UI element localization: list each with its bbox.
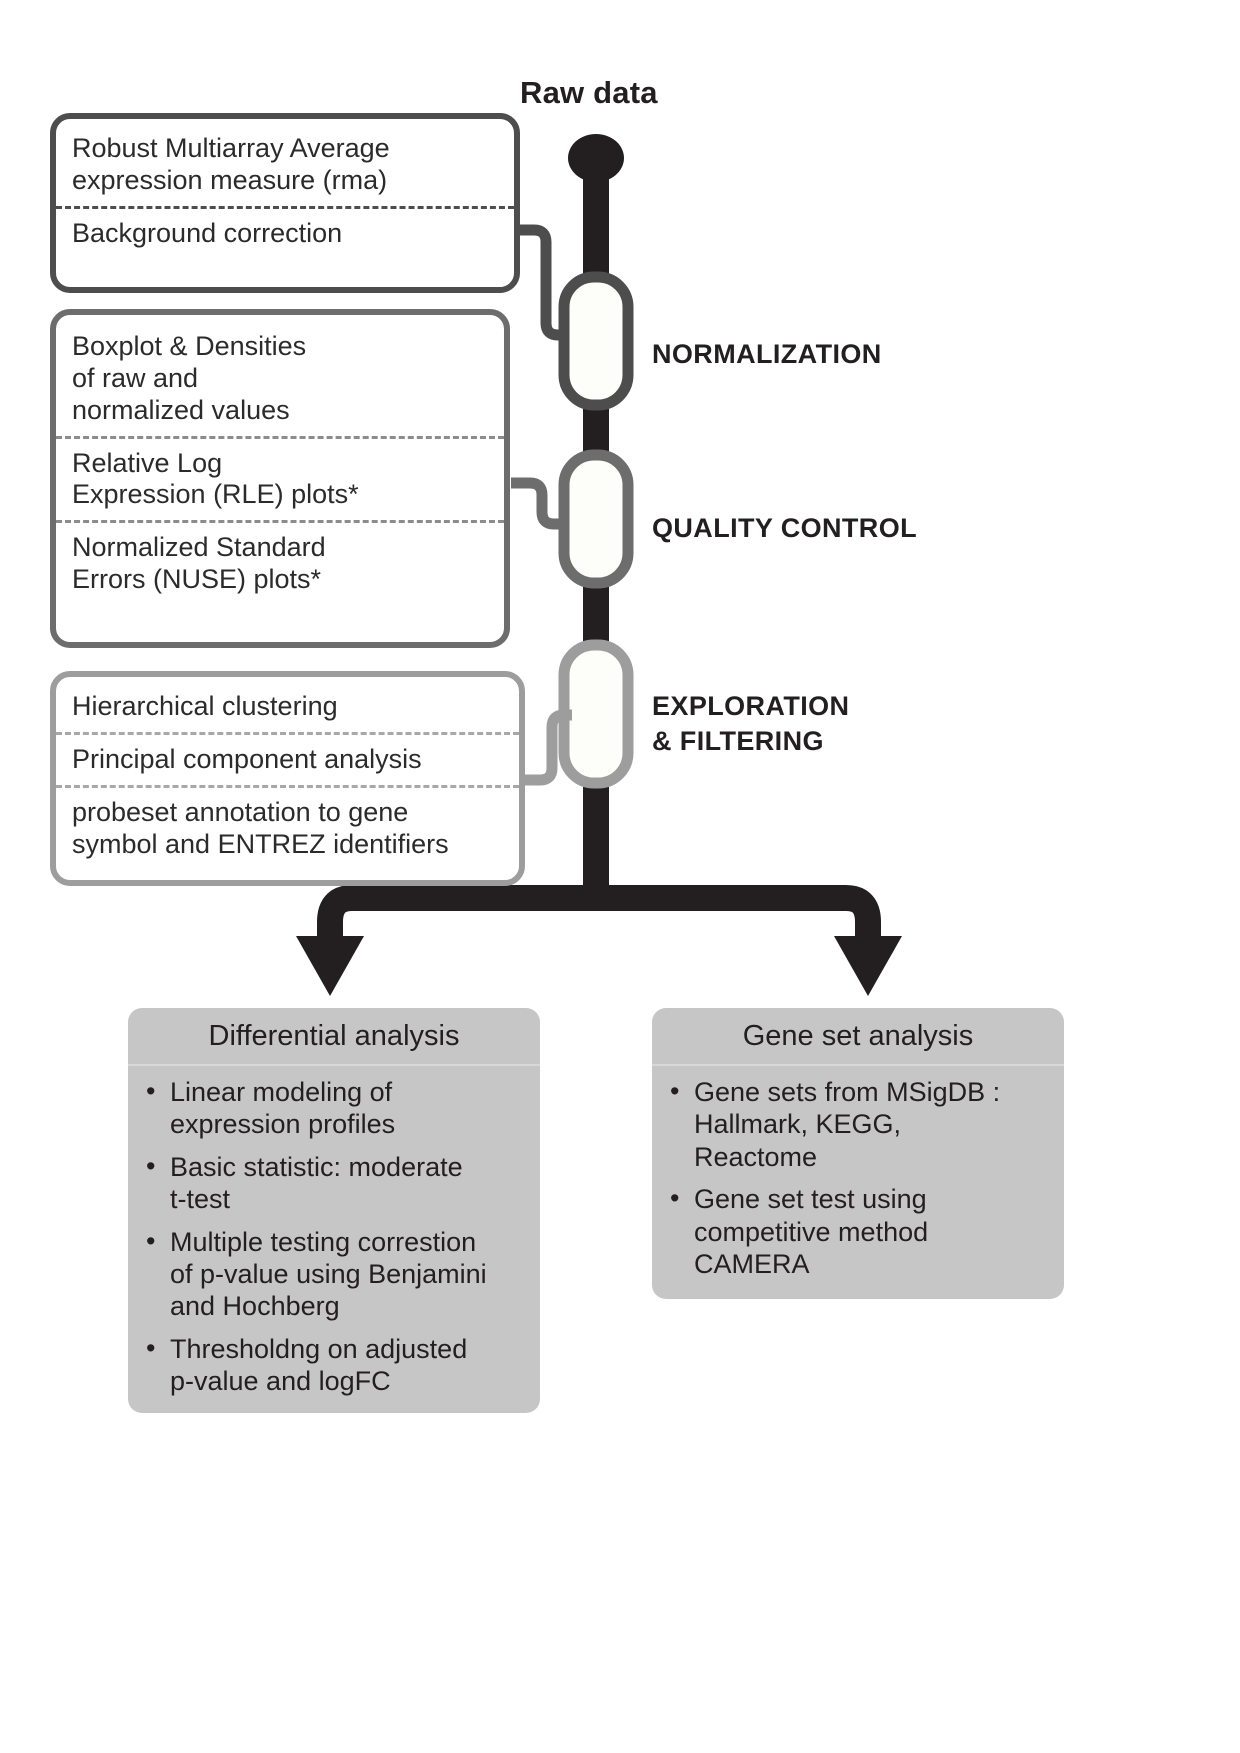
method-item: Background correction <box>56 206 514 259</box>
method-box-quality-control[interactable]: Boxplot & Densities of raw and normalize… <box>50 309 510 648</box>
branch-left-path <box>330 898 596 950</box>
stage-node-quality-control[interactable] <box>564 455 628 583</box>
method-item: probeset annotation to gene symbol and E… <box>56 785 519 870</box>
branch-right-arrowhead <box>834 936 902 996</box>
list-item: Thresholdng on adjusted p-value and logF… <box>144 1333 526 1398</box>
stage-label-quality-control: QUALITY CONTROL <box>652 511 917 546</box>
list-item: Gene set test using competitive method C… <box>668 1183 1050 1280</box>
method-item: Principal component analysis <box>56 732 519 785</box>
outcome-box-differential-analysis[interactable]: Differential analysis Linear modeling of… <box>128 1008 540 1413</box>
page-title: Raw data <box>520 75 780 111</box>
method-item: Normalized Standard Errors (NUSE) plots* <box>56 520 504 605</box>
method-box-normalization[interactable]: Robust Multiarray Average expression mea… <box>50 113 520 293</box>
outcome-bullet-list: Gene sets from MSigDB : Hallmark, KEGG, … <box>652 1066 1064 1306</box>
outcome-bullet-list: Linear modeling of expression profiles B… <box>128 1066 540 1424</box>
list-item: Multiple testing correstion of p-value u… <box>144 1226 526 1323</box>
raw-data-node <box>568 134 624 182</box>
branch-right-path <box>596 898 868 950</box>
stage-label-exploration-filtering: EXPLORATION & FILTERING <box>652 689 849 759</box>
outcome-title: Gene set analysis <box>652 1008 1064 1066</box>
method-item: Relative Log Expression (RLE) plots* <box>56 436 504 521</box>
method-item: Hierarchical clustering <box>56 677 519 732</box>
stage-node-exploration-filtering[interactable] <box>564 645 628 783</box>
stage-label-normalization: NORMALIZATION <box>652 337 882 372</box>
list-item: Basic statistic: moderate t-test <box>144 1151 526 1216</box>
list-item: Linear modeling of expression profiles <box>144 1076 526 1141</box>
method-item: Boxplot & Densities of raw and normalize… <box>56 315 504 436</box>
outcome-title: Differential analysis <box>128 1008 540 1066</box>
branch-left-arrowhead <box>296 936 364 996</box>
stage-node-normalization[interactable] <box>564 277 628 405</box>
outcome-box-gene-set-analysis[interactable]: Gene set analysis Gene sets from MSigDB … <box>652 1008 1064 1299</box>
method-item: Robust Multiarray Average expression mea… <box>56 119 514 206</box>
method-box-exploration-filtering[interactable]: Hierarchical clustering Principal compon… <box>50 671 525 886</box>
flowchart-canvas: Raw data Robust Multiarray Average expre… <box>0 0 1240 1753</box>
list-item: Gene sets from MSigDB : Hallmark, KEGG, … <box>668 1076 1050 1173</box>
